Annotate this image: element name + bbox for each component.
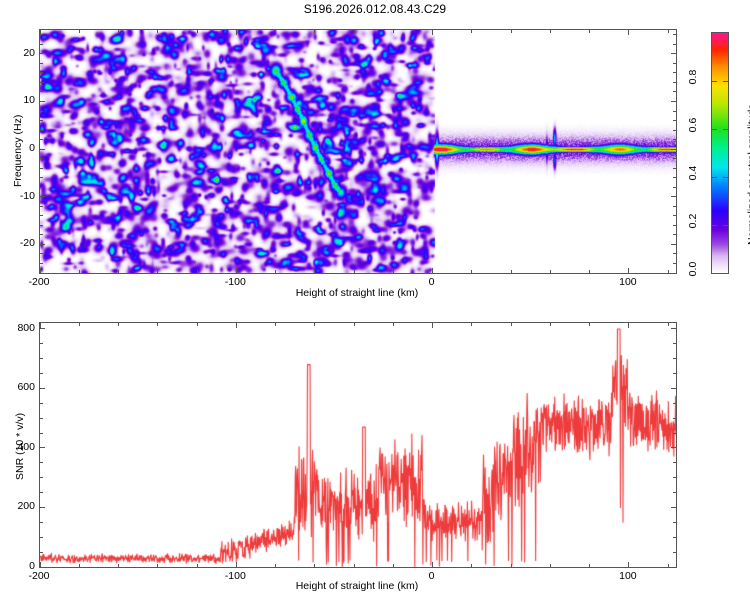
axis-tick: [673, 253, 676, 254]
axis-tick: [673, 403, 676, 404]
axis-tick: [471, 270, 472, 273]
axis-tick: [354, 30, 355, 33]
snr-x-ticklabel: 100: [619, 570, 637, 582]
axis-tick: [40, 343, 43, 344]
axis-tick: [40, 72, 43, 73]
colorbar-ticklabel: 0.0: [687, 257, 699, 281]
axis-tick: [673, 492, 676, 493]
axis-tick: [712, 129, 717, 130]
spectrogram-canvas-clip: [40, 30, 676, 273]
axis-tick: [40, 253, 43, 254]
spectrogram-x-axis-title: Height of straight line (km): [296, 287, 419, 299]
axis-tick: [40, 215, 43, 216]
axis-tick: [671, 388, 676, 389]
axis-tick: [40, 82, 43, 83]
spectrogram-y-ticklabel: -10: [5, 190, 35, 202]
axis-tick: [550, 323, 551, 326]
axis-tick: [471, 30, 472, 33]
axis-tick: [673, 111, 676, 112]
axis-tick: [628, 323, 629, 328]
axis-tick: [673, 91, 676, 92]
axis-tick: [157, 30, 158, 33]
axis-tick: [673, 273, 676, 274]
axis-tick: [432, 323, 433, 328]
axis-tick: [236, 268, 237, 273]
snr-y-ticklabel: 800: [3, 322, 35, 334]
axis-tick: [673, 358, 676, 359]
axis-tick: [673, 34, 676, 35]
colorbar-ticklabel: 0.2: [687, 209, 699, 233]
axis-tick: [40, 44, 43, 45]
axis-tick: [723, 273, 728, 274]
axis-tick: [673, 139, 676, 140]
axis-tick: [197, 323, 198, 326]
axis-tick: [673, 477, 676, 478]
axis-tick: [668, 323, 669, 326]
snr-y-ticklabel: 600: [3, 381, 35, 393]
axis-tick: [673, 82, 676, 83]
axis-tick: [236, 30, 237, 35]
axis-tick: [40, 130, 43, 131]
spectrogram-image: [40, 30, 676, 273]
axis-tick: [40, 507, 45, 508]
axis-tick: [668, 30, 669, 33]
axis-tick: [432, 268, 433, 273]
axis-tick: [40, 552, 43, 553]
axis-tick: [275, 270, 276, 273]
axis-tick: [673, 120, 676, 121]
axis-tick: [393, 270, 394, 273]
axis-tick: [236, 562, 237, 567]
figure-root: S196.2026.012.08.43.C29 -200-1000100 201…: [0, 0, 750, 600]
axis-tick: [40, 139, 43, 140]
axis-tick: [40, 492, 43, 493]
spectrogram-y-ticklabel: -20: [5, 237, 35, 249]
axis-tick: [197, 564, 198, 567]
axis-tick: [40, 388, 45, 389]
axis-tick: [550, 270, 551, 273]
snr-x-ticklabel: 0: [429, 570, 435, 582]
axis-tick: [673, 537, 676, 538]
spectrogram-x-ticklabel: -100: [225, 276, 246, 288]
axis-tick: [79, 30, 80, 33]
figure-title: S196.2026.012.08.43.C29: [0, 2, 750, 16]
axis-tick: [354, 270, 355, 273]
axis-tick: [671, 567, 676, 568]
axis-tick: [314, 30, 315, 33]
snr-y-axis-title: SNR (10 * v/v): [14, 413, 26, 480]
axis-tick: [673, 263, 676, 264]
snr-canvas-clip: [40, 323, 676, 567]
axis-tick: [40, 225, 43, 226]
axis-tick: [511, 30, 512, 33]
axis-tick: [511, 323, 512, 326]
axis-tick: [471, 323, 472, 326]
axis-tick: [40, 358, 43, 359]
axis-tick: [673, 225, 676, 226]
axis-tick: [673, 433, 676, 434]
axis-tick: [40, 418, 43, 419]
spectrogram-x-ticklabel: -200: [28, 276, 49, 288]
axis-tick: [40, 273, 43, 274]
axis-tick: [723, 177, 728, 178]
axis-tick: [393, 30, 394, 33]
axis-tick: [118, 564, 119, 567]
axis-tick: [236, 323, 237, 328]
axis-tick: [673, 343, 676, 344]
snr-panel[interactable]: [39, 322, 677, 568]
axis-tick: [40, 158, 43, 159]
axis-tick: [628, 268, 629, 273]
axis-tick: [673, 522, 676, 523]
colorbar-gradient: [712, 33, 728, 273]
spectrogram-x-ticklabel: 100: [619, 276, 637, 288]
axis-tick: [671, 196, 676, 197]
axis-tick: [40, 206, 43, 207]
axis-tick: [668, 564, 669, 567]
snr-y-ticklabel: 0: [3, 560, 35, 572]
axis-tick: [673, 187, 676, 188]
axis-tick: [40, 63, 43, 64]
axis-tick: [671, 101, 676, 102]
axis-tick: [40, 403, 43, 404]
axis-tick: [314, 564, 315, 567]
axis-tick: [712, 225, 717, 226]
axis-tick: [671, 53, 676, 54]
axis-tick: [550, 564, 551, 567]
axis-tick: [511, 564, 512, 567]
colorbar-title: Normalized spectral amplitude: [746, 104, 750, 245]
axis-tick: [40, 447, 45, 448]
colorbar-ticklabel: 0.6: [687, 113, 699, 137]
spectrogram-x-ticklabel: 0: [429, 276, 435, 288]
axis-tick: [671, 447, 676, 448]
axis-tick: [118, 30, 119, 33]
axis-tick: [673, 130, 676, 131]
axis-tick: [432, 562, 433, 567]
axis-tick: [40, 196, 45, 197]
axis-tick: [40, 149, 45, 150]
axis-tick: [550, 30, 551, 33]
colorbar-ticklabel: 0.4: [687, 161, 699, 185]
axis-tick: [275, 323, 276, 326]
axis-tick: [671, 328, 676, 329]
axis-tick: [79, 323, 80, 326]
axis-tick: [511, 270, 512, 273]
axis-tick: [589, 270, 590, 273]
axis-tick: [671, 244, 676, 245]
axis-tick: [40, 234, 43, 235]
axis-tick: [673, 373, 676, 374]
axis-tick: [712, 177, 717, 178]
axis-tick: [673, 168, 676, 169]
axis-tick: [40, 323, 41, 328]
axis-tick: [40, 168, 43, 169]
axis-tick: [628, 30, 629, 35]
spectrogram-y-ticklabel: 20: [5, 47, 35, 59]
axis-tick: [673, 177, 676, 178]
axis-tick: [673, 158, 676, 159]
axis-tick: [671, 507, 676, 508]
spectrogram-y-axis-title: Frequency (Hz): [12, 115, 24, 187]
axis-tick: [40, 111, 43, 112]
axis-tick: [673, 234, 676, 235]
axis-tick: [628, 562, 629, 567]
axis-tick: [314, 270, 315, 273]
axis-tick: [275, 30, 276, 33]
axis-tick: [723, 129, 728, 130]
axis-tick: [40, 433, 43, 434]
axis-tick: [671, 149, 676, 150]
axis-tick: [40, 53, 45, 54]
axis-tick: [589, 323, 590, 326]
snr-x-ticklabel: -100: [225, 570, 246, 582]
axis-tick: [673, 418, 676, 419]
axis-tick: [723, 225, 728, 226]
snr-line-plot: [40, 323, 676, 567]
axis-tick: [673, 552, 676, 553]
axis-tick: [673, 72, 676, 73]
axis-tick: [393, 564, 394, 567]
axis-tick: [40, 462, 43, 463]
axis-tick: [40, 522, 43, 523]
axis-tick: [40, 177, 43, 178]
axis-tick: [589, 30, 590, 33]
axis-tick: [157, 564, 158, 567]
axis-tick: [471, 564, 472, 567]
axis-tick: [40, 91, 43, 92]
axis-tick: [157, 270, 158, 273]
axis-tick: [118, 323, 119, 326]
axis-tick: [354, 323, 355, 326]
axis-tick: [118, 270, 119, 273]
axis-tick: [673, 63, 676, 64]
axis-tick: [393, 323, 394, 326]
axis-tick: [40, 101, 45, 102]
colorbar-ticklabel: 0.8: [687, 65, 699, 89]
axis-tick: [314, 323, 315, 326]
colorbar[interactable]: [711, 32, 729, 274]
axis-tick: [40, 567, 45, 568]
axis-tick: [432, 30, 433, 35]
axis-tick: [40, 34, 43, 35]
axis-tick: [589, 564, 590, 567]
snr-y-ticklabel: 200: [3, 500, 35, 512]
axis-tick: [668, 270, 669, 273]
axis-tick: [40, 373, 43, 374]
axis-tick: [275, 564, 276, 567]
axis-tick: [723, 81, 728, 82]
axis-tick: [197, 30, 198, 33]
spectrogram-y-ticklabel: 10: [5, 94, 35, 106]
axis-tick: [40, 537, 43, 538]
axis-tick: [712, 273, 717, 274]
axis-tick: [673, 206, 676, 207]
axis-tick: [354, 564, 355, 567]
axis-tick: [197, 270, 198, 273]
axis-tick: [157, 323, 158, 326]
axis-tick: [40, 263, 43, 264]
axis-tick: [40, 244, 45, 245]
axis-tick: [712, 81, 717, 82]
axis-tick: [40, 477, 43, 478]
axis-tick: [40, 187, 43, 188]
axis-tick: [673, 44, 676, 45]
axis-tick: [79, 270, 80, 273]
spectrogram-panel[interactable]: [39, 29, 677, 274]
axis-tick: [40, 328, 45, 329]
axis-tick: [673, 215, 676, 216]
axis-tick: [40, 120, 43, 121]
axis-tick: [79, 564, 80, 567]
snr-x-axis-title: Height of straight line (km): [296, 580, 419, 592]
axis-tick: [673, 462, 676, 463]
